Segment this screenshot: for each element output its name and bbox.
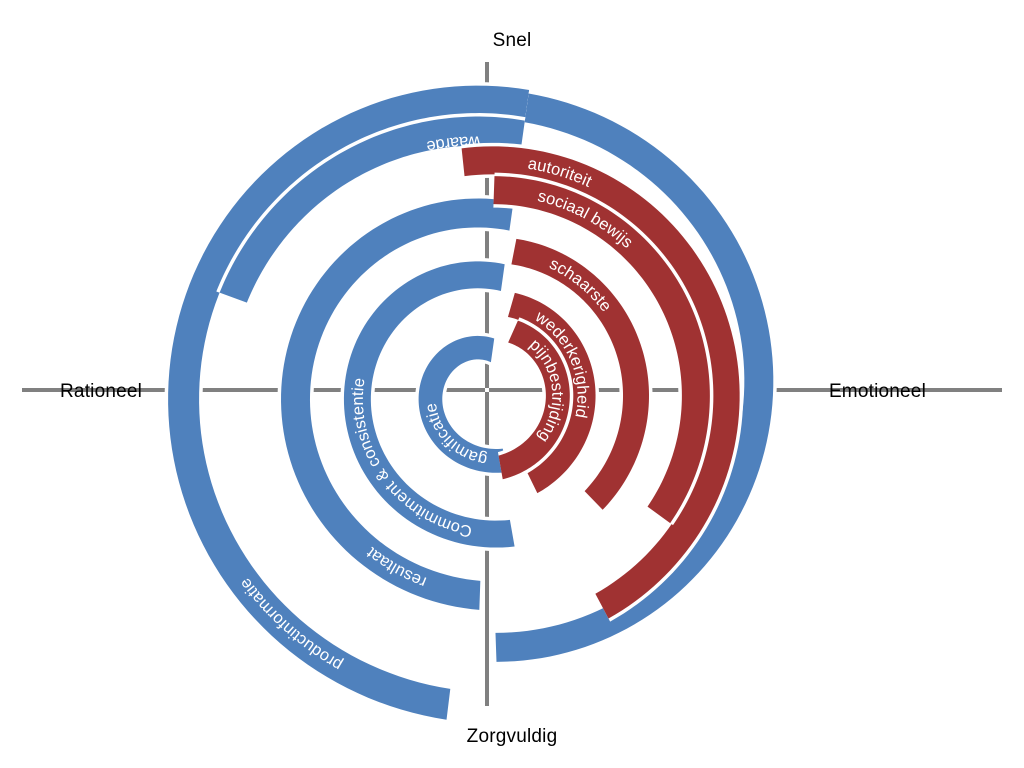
arc-label: productinformatie (236, 575, 345, 675)
arc-band-gap (278, 195, 514, 613)
axis-label-right: Emotioneel (829, 381, 926, 403)
axis-label-left: Rationeel (60, 381, 142, 403)
axis-label-bottom: Zorgvuldig (0, 726, 1024, 748)
spiral-diagram-canvas: productinformatiewaarderesultaatCommitme… (0, 0, 1024, 768)
axis-label-top: Snel (0, 30, 1024, 52)
arc-bands-layer (165, 82, 777, 723)
